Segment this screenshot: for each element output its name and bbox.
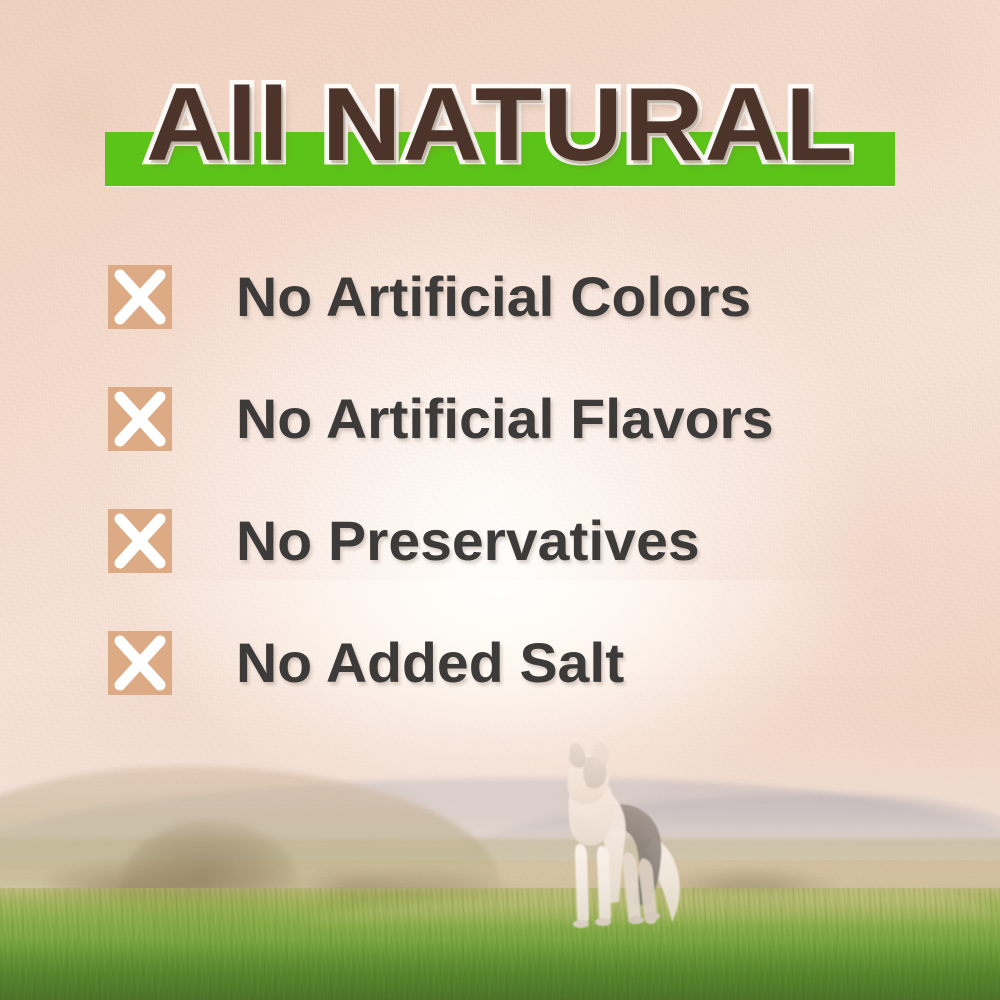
claim-label: No Preservatives — [236, 513, 700, 569]
claim-label: No Artificial Flavors — [236, 391, 773, 447]
list-item: No Added Salt — [108, 624, 928, 702]
list-item: No Artificial Flavors — [108, 380, 928, 458]
grass-shadow — [0, 940, 1000, 1000]
cross-mark-icon — [108, 387, 172, 451]
product-feature-poster: All NATURAL No Artificial Colors No Arti… — [0, 0, 1000, 1000]
cross-mark-icon — [108, 509, 172, 573]
border-collie-dog — [529, 740, 694, 940]
cross-mark-icon — [108, 631, 172, 695]
list-item: No Preservatives — [108, 502, 928, 580]
green-banner-bar — [105, 132, 895, 186]
claims-list: No Artificial Colors No Artificial Flavo… — [108, 258, 928, 746]
claim-label: No Artificial Colors — [236, 269, 751, 325]
claim-label: No Added Salt — [236, 635, 624, 691]
list-item: No Artificial Colors — [108, 258, 928, 336]
cross-mark-icon — [108, 265, 172, 329]
